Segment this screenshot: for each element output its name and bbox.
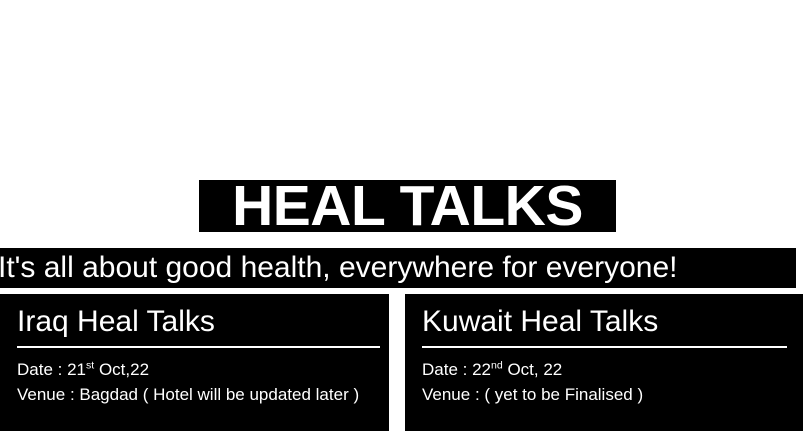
banner-tagline: It's all about good health, everywhere f… <box>0 248 677 288</box>
event-card-divider <box>17 346 380 348</box>
banner-title-band: HEAL TALKS <box>199 180 616 232</box>
promo-banner: HEAL TALKS It's all about good health, e… <box>0 0 803 445</box>
event-date: Date : 22nd Oct, 22 <box>422 357 787 382</box>
event-date: Date : 21st Oct,22 <box>17 357 373 382</box>
event-card-title: Kuwait Heal Talks <box>422 302 787 342</box>
event-date-rest: Oct, 22 <box>503 360 563 379</box>
event-date-rest: Oct,22 <box>94 360 149 379</box>
event-date-ordinal: st <box>86 359 94 371</box>
event-date-label: Date : <box>17 360 67 379</box>
banner-tagline-band: It's all about good health, everywhere f… <box>0 248 796 288</box>
event-card-kuwait[interactable]: Kuwait Heal Talks Date : 22nd Oct, 22 Ve… <box>405 294 803 431</box>
event-venue: Venue : ( yet to be Finalised ) <box>422 382 787 407</box>
event-date-ordinal: nd <box>491 359 503 371</box>
page-title: HEAL TALKS <box>232 180 583 232</box>
event-date-label: Date : <box>422 360 472 379</box>
event-card-divider <box>422 346 787 348</box>
event-card-iraq[interactable]: Iraq Heal Talks Date : 21st Oct,22 Venue… <box>0 294 389 431</box>
event-date-day: 21 <box>67 360 86 379</box>
event-date-day: 22 <box>472 360 491 379</box>
event-card-title: Iraq Heal Talks <box>17 302 373 342</box>
event-venue: Venue : Bagdad ( Hotel will be updated l… <box>17 382 373 407</box>
